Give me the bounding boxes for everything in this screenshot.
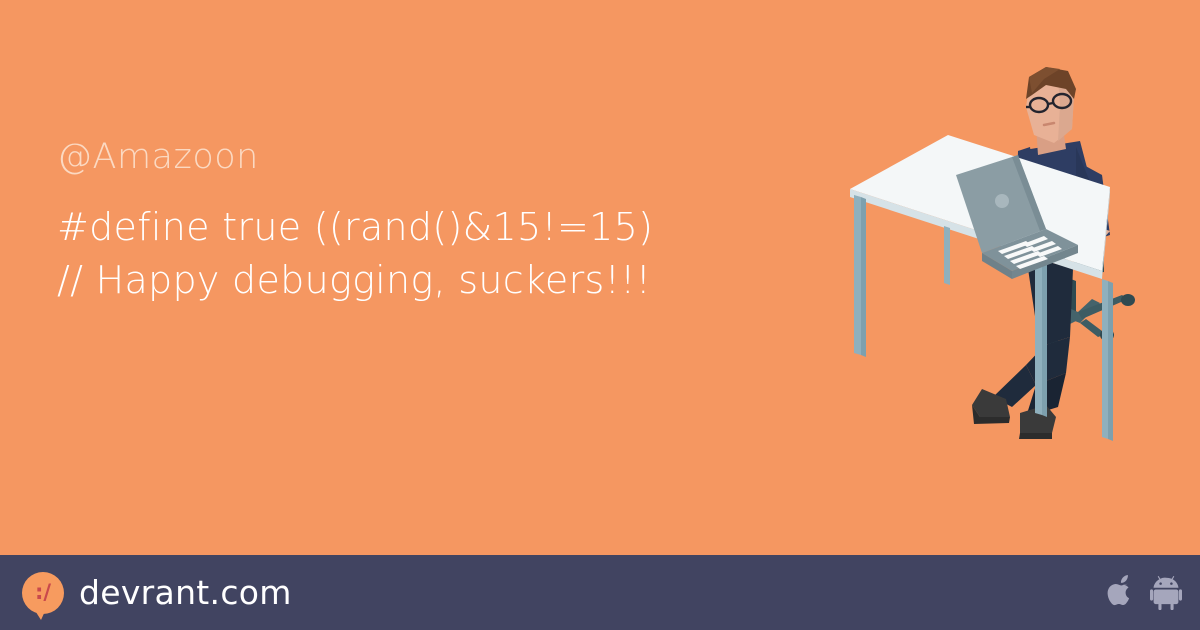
rant-username[interactable]: @Amazoon (57, 138, 817, 177)
developer-figure-lower (972, 255, 1073, 439)
rant-content: @Amazoon #define true ((rand()&15!=15) /… (57, 138, 817, 308)
devrant-logo-icon: :/ (22, 572, 64, 614)
brand-name: devrant.com (79, 576, 292, 609)
platform-icons (1106, 555, 1182, 630)
apple-icon[interactable] (1106, 575, 1136, 611)
android-icon[interactable] (1150, 576, 1182, 610)
devrant-logo-glyph: :/ (22, 572, 64, 614)
rant-line-2: // Happy debugging, suckers!!! (57, 254, 817, 308)
brand-link[interactable]: :/ devrant.com (22, 555, 292, 630)
rant-line-1: #define true ((rand()&15!=15) (57, 201, 817, 255)
devrant-rant-card: hello world (0, 0, 1200, 630)
rant-body: #define true ((rand()&15!=15) // Happy d… (57, 201, 817, 309)
developer-at-desk-illustration: hello world (830, 55, 1200, 485)
footer-bar: :/ devrant.com (0, 555, 1200, 630)
